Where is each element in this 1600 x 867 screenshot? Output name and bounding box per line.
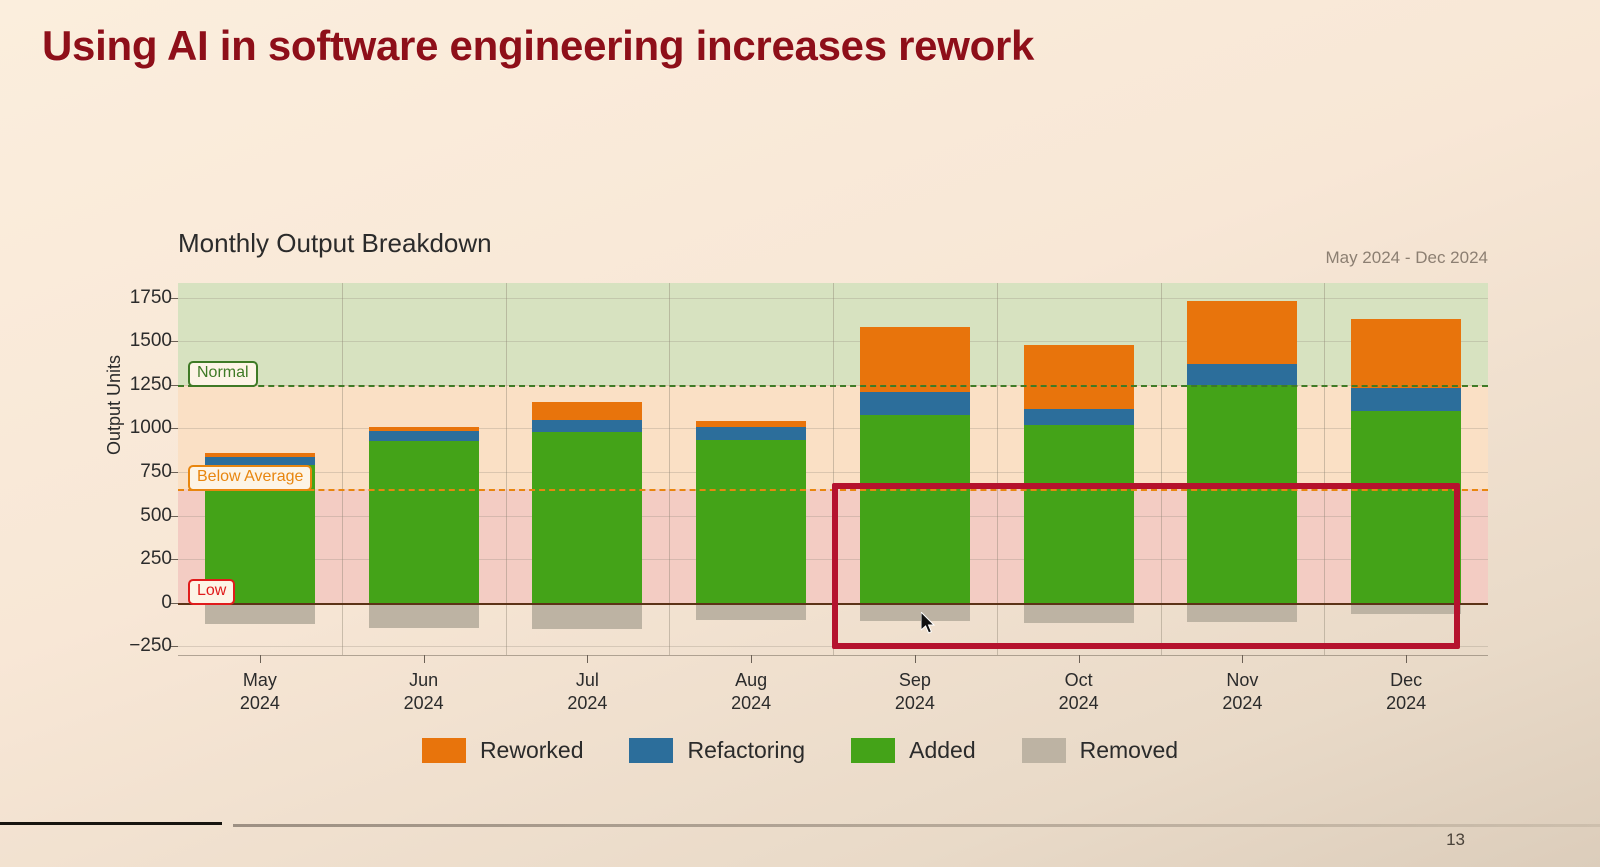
y-tick-label: 500 bbox=[100, 505, 172, 527]
y-tick-mark bbox=[171, 472, 178, 473]
bar-group[interactable] bbox=[532, 283, 642, 655]
x-tick-label-line: 2024 bbox=[344, 692, 504, 715]
gridline-vertical bbox=[833, 283, 834, 655]
threshold-line-normal bbox=[178, 385, 1488, 387]
x-tick-label-line: Aug bbox=[671, 669, 831, 692]
x-tick-label-line: Oct bbox=[999, 669, 1159, 692]
bar-segment-removed[interactable] bbox=[205, 603, 315, 624]
x-tick-mark bbox=[915, 655, 916, 663]
y-tick-label: −250 bbox=[100, 635, 172, 657]
bar-segment-refactoring[interactable] bbox=[532, 420, 642, 432]
x-tick-label-line: Nov bbox=[1162, 669, 1322, 692]
gridline-vertical bbox=[342, 283, 343, 655]
x-tick-label-line: Jun bbox=[344, 669, 504, 692]
legend-swatch-icon bbox=[629, 738, 673, 763]
mouse-cursor-icon bbox=[921, 612, 937, 636]
bar-segment-removed[interactable] bbox=[532, 603, 642, 629]
y-tick-mark bbox=[171, 385, 178, 386]
y-axis-ticks: 17501500125010007505002500−250 bbox=[92, 283, 172, 655]
bar-group[interactable] bbox=[696, 283, 806, 655]
footer-rule-light bbox=[233, 824, 1600, 827]
bar-segment-reworked[interactable] bbox=[1351, 319, 1461, 389]
x-tick-mark bbox=[1079, 655, 1080, 663]
x-tick-label-line: May bbox=[180, 669, 340, 692]
y-tick-label: 1500 bbox=[100, 330, 172, 352]
chart-legend: ReworkedRefactoringAddedRemoved bbox=[0, 737, 1600, 764]
bar-segment-reworked[interactable] bbox=[205, 453, 315, 457]
legend-label: Removed bbox=[1080, 737, 1178, 764]
gridline-vertical bbox=[1161, 283, 1162, 655]
gridline-vertical bbox=[997, 283, 998, 655]
threshold-line-low bbox=[178, 603, 1488, 605]
bar-segment-refactoring[interactable] bbox=[369, 431, 479, 441]
threshold-label-normal: Normal bbox=[188, 361, 258, 387]
bar-segment-added[interactable] bbox=[696, 440, 806, 603]
page-title: Using AI in software engineering increas… bbox=[42, 22, 1034, 70]
legend-item-refactoring[interactable]: Refactoring bbox=[629, 737, 805, 764]
bar-segment-reworked[interactable] bbox=[532, 402, 642, 419]
x-tick-label-line: 2024 bbox=[1326, 692, 1486, 715]
y-tick-label: 1000 bbox=[100, 417, 172, 439]
x-tick-label-line: 2024 bbox=[180, 692, 340, 715]
threshold-line-below-average bbox=[178, 489, 1488, 491]
legend-swatch-icon bbox=[851, 738, 895, 763]
x-tick-label-line: 2024 bbox=[1162, 692, 1322, 715]
bar-group[interactable] bbox=[1351, 283, 1461, 655]
x-tick-mark bbox=[751, 655, 752, 663]
bar-segment-reworked[interactable] bbox=[860, 327, 970, 391]
bar-segment-reworked[interactable] bbox=[1024, 345, 1134, 409]
footer-rule-dark bbox=[0, 822, 222, 825]
x-tick-label-line: 2024 bbox=[507, 692, 667, 715]
legend-label: Added bbox=[909, 737, 976, 764]
x-tick-label: Jun2024 bbox=[344, 669, 504, 715]
y-tick-mark bbox=[171, 298, 178, 299]
x-tick-mark bbox=[1406, 655, 1407, 663]
bar-segment-removed[interactable] bbox=[696, 603, 806, 620]
bar-group[interactable] bbox=[1187, 283, 1297, 655]
legend-item-added[interactable]: Added bbox=[851, 737, 976, 764]
bar-segment-refactoring[interactable] bbox=[1187, 364, 1297, 385]
bar-segment-refactoring[interactable] bbox=[205, 457, 315, 465]
legend-label: Refactoring bbox=[687, 737, 805, 764]
y-tick-mark bbox=[171, 559, 178, 560]
bar-segment-refactoring[interactable] bbox=[696, 427, 806, 440]
x-axis-line bbox=[178, 655, 1488, 656]
bar-segment-refactoring[interactable] bbox=[860, 392, 970, 415]
bar-segment-removed[interactable] bbox=[369, 603, 479, 628]
x-tick-label: Sep2024 bbox=[835, 669, 995, 715]
bar-segment-reworked[interactable] bbox=[369, 427, 479, 431]
bar-segment-added[interactable] bbox=[1187, 385, 1297, 603]
legend-item-removed[interactable]: Removed bbox=[1022, 737, 1178, 764]
x-tick-mark bbox=[260, 655, 261, 663]
x-tick-label-line: 2024 bbox=[835, 692, 995, 715]
gridline-vertical bbox=[669, 283, 670, 655]
gridline-vertical bbox=[506, 283, 507, 655]
x-tick-label-line: Sep bbox=[835, 669, 995, 692]
y-tick-mark bbox=[171, 646, 178, 647]
bar-segment-added[interactable] bbox=[1024, 425, 1134, 603]
x-tick-label: Oct2024 bbox=[999, 669, 1159, 715]
x-tick-label-line: 2024 bbox=[999, 692, 1159, 715]
x-tick-mark bbox=[587, 655, 588, 663]
y-tick-mark bbox=[171, 341, 178, 342]
legend-item-reworked[interactable]: Reworked bbox=[422, 737, 584, 764]
bar-segment-added[interactable] bbox=[532, 432, 642, 603]
y-tick-label: 1750 bbox=[100, 287, 172, 309]
bar-segment-reworked[interactable] bbox=[1187, 301, 1297, 364]
x-tick-label: Nov2024 bbox=[1162, 669, 1322, 715]
chart-title: Monthly Output Breakdown bbox=[178, 228, 492, 259]
bar-segment-reworked[interactable] bbox=[696, 421, 806, 427]
bar-segment-refactoring[interactable] bbox=[1351, 388, 1461, 411]
plot-area: NormalBelow AverageLow bbox=[178, 283, 1488, 655]
bar-segment-removed[interactable] bbox=[1024, 603, 1134, 623]
bar-segment-removed[interactable] bbox=[860, 603, 970, 621]
y-tick-mark bbox=[171, 603, 178, 604]
page-number: 13 bbox=[1446, 830, 1465, 850]
x-tick-label: Dec2024 bbox=[1326, 669, 1486, 715]
y-tick-mark bbox=[171, 428, 178, 429]
x-tick-label: Aug2024 bbox=[671, 669, 831, 715]
bar-group[interactable] bbox=[1024, 283, 1134, 655]
x-tick-label: Jul2024 bbox=[507, 669, 667, 715]
bar-segment-added[interactable] bbox=[369, 441, 479, 603]
y-tick-label: 0 bbox=[100, 592, 172, 614]
y-tick-label: 250 bbox=[100, 548, 172, 570]
y-tick-label: 1250 bbox=[100, 374, 172, 396]
bar-segment-added[interactable] bbox=[860, 415, 970, 603]
legend-label: Reworked bbox=[480, 737, 584, 764]
x-tick-mark bbox=[424, 655, 425, 663]
x-tick-mark bbox=[1242, 655, 1243, 663]
x-tick-label: May2024 bbox=[180, 669, 340, 715]
x-tick-label-line: 2024 bbox=[671, 692, 831, 715]
y-tick-mark bbox=[171, 516, 178, 517]
bar-group[interactable] bbox=[369, 283, 479, 655]
chart-date-range: May 2024 - Dec 2024 bbox=[1325, 248, 1488, 268]
threshold-label-low: Low bbox=[188, 579, 235, 605]
chart-figure: Monthly Output Breakdown May 2024 - Dec … bbox=[0, 200, 1600, 800]
threshold-label-below: Below Average bbox=[188, 465, 312, 491]
gridline-vertical bbox=[1324, 283, 1325, 655]
bar-segment-removed[interactable] bbox=[1187, 603, 1297, 622]
bar-segment-refactoring[interactable] bbox=[1024, 409, 1134, 425]
y-tick-label: 750 bbox=[100, 461, 172, 483]
bar-group[interactable] bbox=[860, 283, 970, 655]
bar-segment-added[interactable] bbox=[1351, 411, 1461, 603]
legend-swatch-icon bbox=[1022, 738, 1066, 763]
x-tick-label-line: Jul bbox=[507, 669, 667, 692]
legend-swatch-icon bbox=[422, 738, 466, 763]
x-tick-label-line: Dec bbox=[1326, 669, 1486, 692]
